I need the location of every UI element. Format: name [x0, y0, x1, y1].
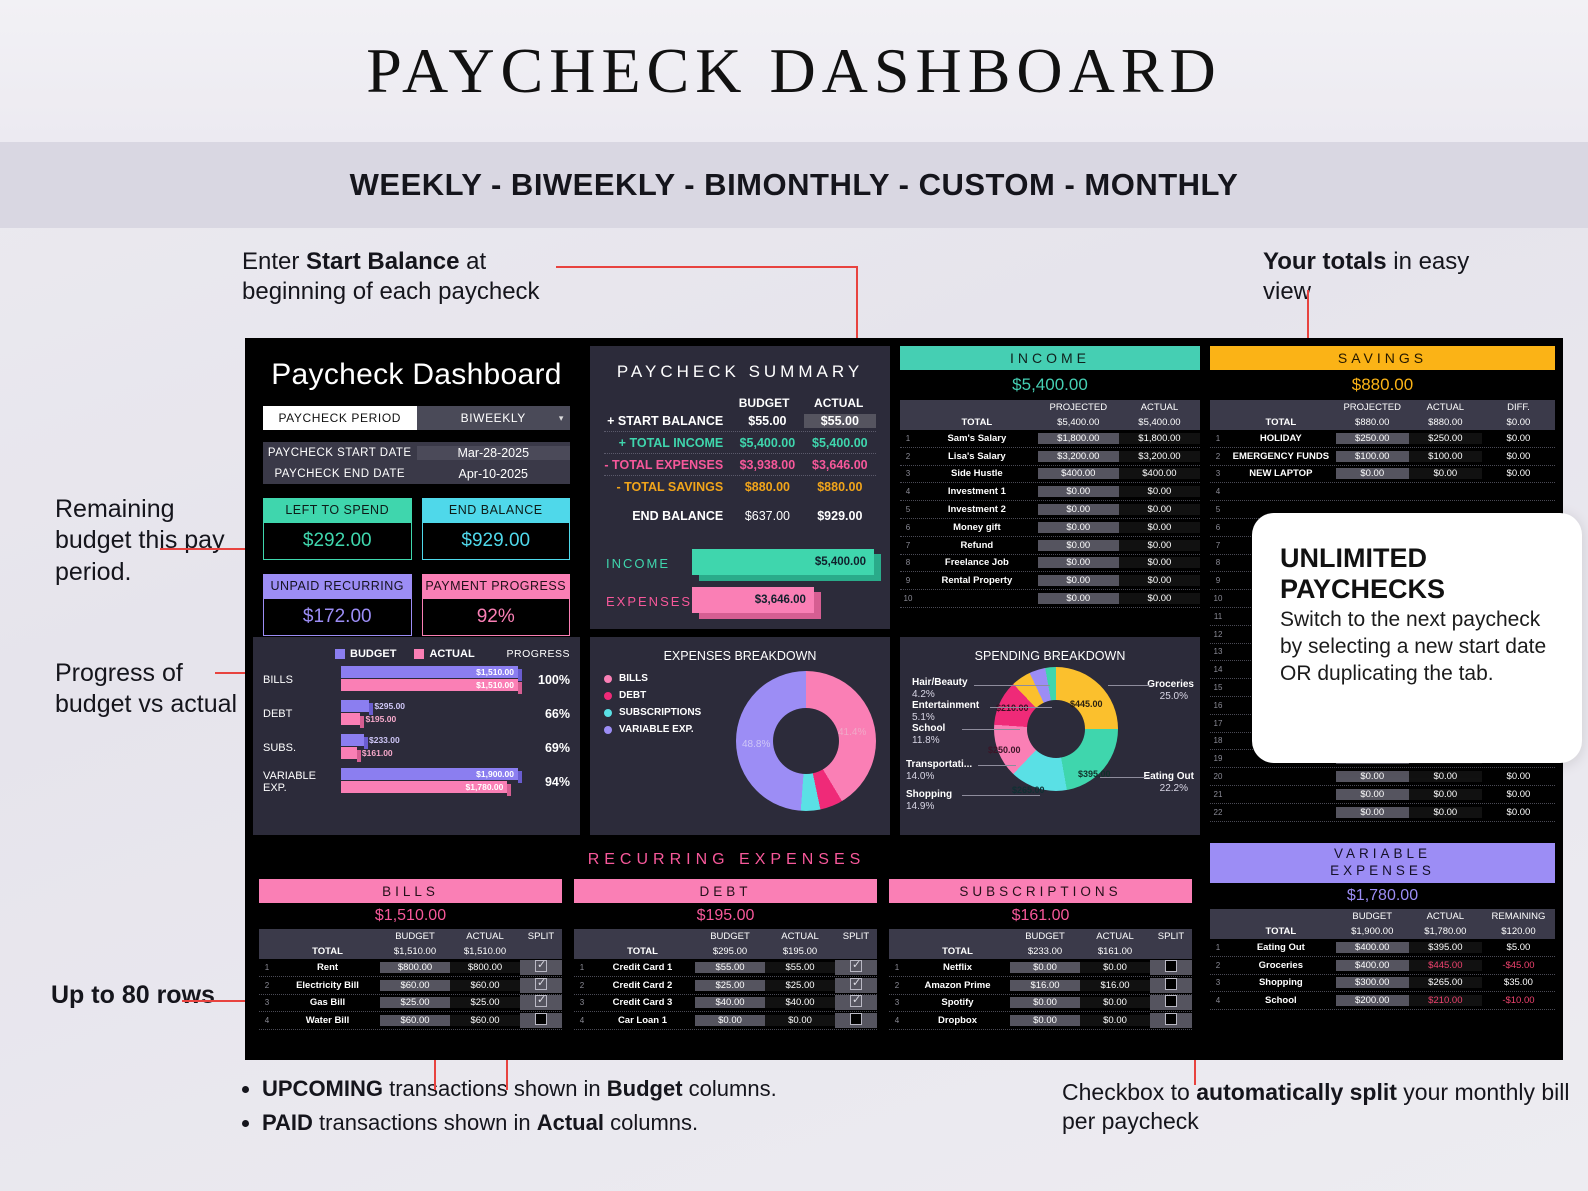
row-number: 9 — [1210, 576, 1226, 585]
row-number: 22 — [1210, 808, 1226, 817]
row-projected[interactable]: $0.00 — [1336, 789, 1409, 800]
col-budget: BUDGET — [1010, 931, 1080, 942]
table-row[interactable]: 3Shopping$300.00$265.00$35.00 — [1210, 975, 1555, 993]
row-projected[interactable]: $400.00 — [1038, 468, 1119, 479]
mini-header-row: BUDGETACTUALSPLIT — [574, 929, 877, 944]
row-split[interactable] — [520, 1013, 562, 1028]
table-row[interactable]: 10$0.00$0.00 — [900, 590, 1200, 608]
subtitle-text: WEEKLY - BIWEEKLY - BIMONTHLY - CUSTOM -… — [350, 167, 1239, 203]
row-budget[interactable]: $40.00 — [695, 997, 765, 1008]
row-number: 2 — [574, 981, 590, 990]
row-projected[interactable]: $1,800.00 — [1038, 433, 1119, 444]
spending-pct-shopping: 14.9% — [906, 801, 934, 812]
expenses-label-variable: 48.8% — [742, 739, 770, 750]
mini-total-row: TOTAL$233.00$161.00 — [889, 944, 1192, 959]
expenses-breakdown-chart: EXPENSES BREAKDOWN BILLS DEBT SUBSCRIPTI… — [590, 637, 890, 835]
row-actual[interactable]: $40.00 — [765, 997, 835, 1008]
kpi-unpaid-recurring-value: $172.00 — [263, 598, 412, 636]
row-number: 4 — [259, 1016, 275, 1025]
col-actual: ACTUAL — [1080, 931, 1150, 942]
kpi-payment-progress-value: 92% — [422, 598, 571, 636]
row-label[interactable]: Water Bill — [275, 1015, 380, 1026]
row-budget[interactable]: $0.00 — [1010, 997, 1080, 1008]
table-row[interactable]: 3Side Hustle$400.00$400.00 — [900, 466, 1200, 484]
paycheck-start-date-row[interactable]: PAYCHECK START DATE Mar-28-2025 — [263, 442, 570, 463]
annotation-bullets: UPCOMING transactions shown in Budget co… — [240, 1075, 1000, 1142]
progress-row: DEBT$295.00$195.0066% — [253, 697, 580, 731]
row-label[interactable]: EMERGENCY FUNDS — [1226, 451, 1336, 462]
row-number: 1 — [1210, 943, 1226, 952]
savings-col-diff: DIFF. — [1482, 402, 1555, 413]
row-actual[interactable]: $25.00 — [765, 980, 835, 991]
row-number: 10 — [900, 594, 916, 603]
mini-total-row: TOTAL$1,510.00$1,510.00 — [259, 944, 562, 959]
savings-caption: SAVINGS — [1210, 346, 1555, 370]
row-number: 2 — [1210, 961, 1226, 970]
row-actual[interactable]: $210.00 — [1409, 995, 1482, 1006]
callout-line-eatingout — [1100, 777, 1152, 778]
row-budget[interactable]: $400.00 — [1336, 942, 1409, 953]
table-row[interactable]: 4Investment 1$0.00$0.00 — [900, 483, 1200, 501]
row-projected[interactable]: $0.00 — [1038, 557, 1119, 568]
row-split[interactable] — [1150, 960, 1192, 975]
progress-bar-budget: $233.00 — [341, 734, 364, 746]
debt-caption: DEBT — [574, 879, 877, 903]
col-split: SPLIT — [835, 931, 877, 942]
table-row[interactable]: 4Water Bill$60.00$60.00 — [259, 1012, 562, 1030]
spending-pct-entertainment: 5.1% — [912, 712, 935, 723]
row-number: 1 — [574, 963, 590, 972]
row-actual[interactable]: $0.00 — [1119, 575, 1200, 586]
row-number: 3 — [1210, 469, 1226, 478]
start-date-value[interactable]: Mar-28-2025 — [417, 446, 571, 460]
split-checkbox[interactable] — [1165, 960, 1177, 972]
row-actual[interactable]: $60.00 — [450, 980, 520, 991]
kpi-end-balance: END BALANCE $929.00 — [422, 498, 571, 560]
row-actual[interactable]: $445.00 — [1409, 960, 1482, 971]
row-actual[interactable]: $55.00 — [765, 962, 835, 973]
paycheck-summary-title: PAYCHECK SUMMARY — [590, 346, 890, 382]
spending-pct-eating-out: 22.2% — [1160, 783, 1188, 794]
row-label[interactable]: Netflix — [905, 962, 1010, 973]
row-actual[interactable]: $0.00 — [1119, 522, 1200, 533]
bills-total: $1,510.00 — [259, 903, 562, 929]
chevron-down-icon: ▾ — [559, 413, 564, 424]
paycheck-end-date-row: PAYCHECK END DATE Apr-10-2025 — [263, 463, 570, 484]
summary-col-actual: ACTUAL — [801, 396, 876, 410]
progress-row-label: BILLS — [263, 674, 341, 686]
legend-actual: ACTUAL — [414, 648, 474, 660]
callout-line-transport — [978, 765, 1016, 766]
row-budget[interactable]: $0.00 — [1010, 1015, 1080, 1026]
row-split[interactable] — [1150, 1013, 1192, 1028]
split-checkbox[interactable] — [535, 978, 547, 990]
spending-label-hair-beauty: Hair/Beauty — [912, 677, 968, 688]
table-row[interactable]: 3Spotify$0.00$0.00 — [889, 995, 1192, 1013]
table-row[interactable]: 1Sam's Salary$1,800.00$1,800.00 — [900, 430, 1200, 448]
row-projected[interactable]: $0.00 — [1038, 540, 1119, 551]
progress-budget-value: $233.00 — [369, 735, 400, 745]
col-split: SPLIT — [520, 931, 562, 942]
row-label[interactable]: Dropbox — [905, 1015, 1010, 1026]
progress-row: VARIABLE EXP.$1,900.00$1,780.0094% — [253, 765, 580, 799]
progress-row-label: DEBT — [263, 708, 341, 720]
row-split[interactable] — [835, 1013, 877, 1028]
variable-expenses-table: BUDGET ACTUAL REMAINING TOTAL $1,900.00 … — [1210, 909, 1555, 1010]
progress-bar-budget: $295.00 — [341, 700, 369, 712]
legend-item-debt: DEBT — [604, 690, 701, 701]
dashboard-title-panel: Paycheck Dashboard PAYCHECK PERIOD BIWEE… — [253, 346, 580, 629]
debt-table: BUDGETACTUALSPLITTOTAL$295.00$195.001Cre… — [574, 929, 877, 1030]
row-actual[interactable]: $0.00 — [1080, 1015, 1150, 1026]
row-budget[interactable]: $0.00 — [695, 1015, 765, 1026]
row-label[interactable]: Credit Card 3 — [590, 997, 695, 1008]
summary-bar-income-label: INCOME — [606, 556, 692, 571]
table-row[interactable]: 3Credit Card 3$40.00$40.00 — [574, 995, 877, 1013]
row-split[interactable] — [835, 960, 877, 975]
row-budget[interactable]: $800.00 — [380, 962, 450, 973]
legend-budget-swatch — [335, 649, 345, 659]
row-split[interactable] — [1150, 995, 1192, 1010]
table-row[interactable]: 9Rental Property$0.00$0.00 — [900, 572, 1200, 590]
row-projected[interactable]: $250.00 — [1336, 433, 1409, 444]
split-checkbox[interactable] — [535, 1013, 547, 1025]
row-actual[interactable]: $0.00 — [1119, 486, 1200, 497]
row-actual[interactable]: $0.00 — [1409, 468, 1482, 479]
recurring-expenses-panel: RECURRING EXPENSES BILLS $1,510.00 BUDGE… — [253, 843, 1200, 1052]
row-actual[interactable]: $100.00 — [1409, 451, 1482, 462]
annotation-your-totals: Your totals in easy view — [1263, 247, 1493, 307]
row-label[interactable]: Credit Card 2 — [590, 980, 695, 991]
kpi-unpaid-recurring: UNPAID RECURRING $172.00 — [263, 574, 412, 636]
table-row[interactable]: 21$0.00$0.00$0.00 — [1210, 786, 1555, 804]
row-label[interactable]: Investment 1 — [916, 486, 1038, 497]
savings-col-projected: PROJECTED — [1336, 402, 1409, 413]
legend-item-variable: VARIABLE EXP. — [604, 724, 701, 735]
savings-header-row: PROJECTED ACTUAL DIFF. — [1210, 400, 1555, 415]
page-title: PAYCHECK DASHBOARD — [366, 34, 1221, 108]
progress-percent: 69% — [518, 741, 570, 755]
table-row[interactable]: 2Lisa's Salary$3,200.00$3,200.00 — [900, 448, 1200, 466]
row-number: 8 — [1210, 558, 1226, 567]
summary-bar-expenses-fill: $3,646.00 — [692, 587, 814, 613]
row-actual[interactable]: $0.00 — [1119, 557, 1200, 568]
row-label[interactable]: Sam's Salary — [916, 433, 1038, 444]
row-label[interactable]: Groceries — [1226, 960, 1336, 971]
progress-bar-actual: $195.00 — [341, 713, 360, 725]
row-number: 21 — [1210, 790, 1226, 799]
savings-total-row: TOTAL $880.00 $880.00 $0.00 — [1210, 415, 1555, 430]
table-row[interactable]: 4School$200.00$210.00-$10.00 — [1210, 992, 1555, 1010]
row-split[interactable] — [520, 995, 562, 1010]
row-number: 1 — [1210, 434, 1226, 443]
variable-expenses-caption: VARIABLE EXPENSES — [1210, 843, 1555, 883]
spending-label-entertainment: Entertainment — [912, 700, 979, 711]
row-budget[interactable]: $55.00 — [695, 962, 765, 973]
table-row[interactable]: 22$0.00$0.00$0.00 — [1210, 804, 1555, 822]
paycheck-summary-table: BUDGET ACTUAL + START BALANCE $55.00 $55… — [604, 396, 876, 526]
bills-caption: BILLS — [259, 879, 562, 903]
progress-percent: 100% — [518, 673, 570, 687]
subscriptions-total: $161.00 — [889, 903, 1192, 929]
row-label[interactable]: Money gift — [916, 522, 1038, 533]
table-row[interactable]: 1HOLIDAY$250.00$250.00$0.00 — [1210, 430, 1555, 448]
row-label[interactable]: HOLIDAY — [1226, 433, 1336, 444]
progress-budget-value: $295.00 — [374, 701, 405, 711]
expenses-chart-legend: BILLS DEBT SUBSCRIPTIONS VARIABLE EXP. — [604, 673, 701, 741]
row-label[interactable]: Amazon Prime — [905, 980, 1010, 991]
progress-percent: 94% — [518, 775, 570, 789]
variable-header-row: BUDGET ACTUAL REMAINING — [1210, 909, 1555, 924]
row-number: 14 — [1210, 665, 1226, 674]
row-number: 5 — [900, 505, 916, 514]
summary-row-start-balance: + START BALANCE $55.00 $55.00 — [604, 410, 876, 432]
row-number: 2 — [1210, 452, 1226, 461]
progress-budget-value: $1,510.00 — [476, 667, 514, 677]
income-col-projected: PROJECTED — [1038, 402, 1119, 413]
table-row[interactable]: 6Money gift$0.00$0.00 — [900, 519, 1200, 537]
row-split[interactable] — [520, 960, 562, 975]
table-row[interactable]: 2Amazon Prime$16.00$16.00 — [889, 977, 1192, 995]
spending-label-shopping: Shopping — [906, 789, 952, 800]
row-number: 10 — [1210, 594, 1226, 603]
summary-header-row: BUDGET ACTUAL — [604, 396, 876, 410]
row-projected[interactable]: $0.00 — [1336, 771, 1409, 782]
table-row[interactable]: 4 — [1210, 483, 1555, 501]
table-row[interactable]: 1Eating Out$400.00$395.00$5.00 — [1210, 939, 1555, 957]
progress-actual-value: $1,780.00 — [466, 782, 504, 792]
row-split[interactable] — [835, 978, 877, 993]
row-label[interactable]: Shopping — [1226, 977, 1336, 988]
row-budget[interactable]: $16.00 — [1010, 980, 1080, 991]
row-diff: $0.00 — [1482, 451, 1555, 462]
table-row[interactable]: 1Credit Card 1$55.00$55.00 — [574, 959, 877, 977]
income-table: PROJECTED ACTUAL TOTAL $5,400.00 $5,400.… — [900, 400, 1200, 608]
row-actual[interactable]: $0.00 — [1409, 807, 1482, 818]
row-actual[interactable]: $0.00 — [1080, 962, 1150, 973]
row-projected[interactable]: $0.00 — [1038, 504, 1119, 515]
row-split[interactable] — [835, 995, 877, 1010]
row-remaining: $35.00 — [1482, 977, 1555, 988]
row-actual[interactable]: $25.00 — [450, 997, 520, 1008]
bills-table-panel: BILLS $1,510.00 BUDGETACTUALSPLITTOTAL$1… — [259, 879, 562, 1051]
progress-bar-budget: $1,900.00 — [341, 768, 518, 780]
callout-line-school — [962, 729, 1020, 730]
row-projected[interactable]: $0.00 — [1038, 593, 1119, 604]
row-label[interactable]: NEW LAPTOP — [1226, 468, 1336, 479]
variable-total-row: TOTAL $1,900.00 $1,780.00 $120.00 — [1210, 924, 1555, 939]
table-row[interactable]: 7Refund$0.00$0.00 — [900, 537, 1200, 555]
row-actual[interactable]: $0.00 — [1119, 504, 1200, 515]
row-budget[interactable]: $25.00 — [380, 997, 450, 1008]
spending-pct-groceries: 25.0% — [1160, 691, 1188, 702]
row-actual[interactable]: $265.00 — [1409, 977, 1482, 988]
table-row[interactable]: 3Gas Bill$25.00$25.00 — [259, 995, 562, 1013]
row-actual[interactable]: $60.00 — [450, 1015, 520, 1026]
legend-budget: BUDGET — [335, 648, 396, 660]
table-row[interactable]: 3NEW LAPTOP$0.00$0.00$0.00 — [1210, 466, 1555, 484]
summary-bar-expenses-label: EXPENSES — [606, 594, 692, 609]
row-budget[interactable]: $200.00 — [1336, 995, 1409, 1006]
split-checkbox[interactable] — [850, 978, 862, 990]
summary-bar-income-fill: $5,400.00 — [692, 549, 874, 575]
row-actual[interactable]: $0.00 — [1409, 771, 1482, 782]
row-actual[interactable]: $395.00 — [1409, 942, 1482, 953]
recurring-expenses-title: RECURRING EXPENSES — [253, 843, 1200, 869]
progress-bar-actual: $161.00 — [341, 747, 357, 759]
table-row[interactable]: 8Freelance Job$0.00$0.00 — [900, 555, 1200, 573]
split-checkbox[interactable] — [1165, 1013, 1177, 1025]
row-number: 3 — [259, 998, 275, 1007]
start-date-label: PAYCHECK START DATE — [263, 447, 417, 459]
row-budget[interactable]: $60.00 — [380, 1015, 450, 1026]
row-budget[interactable]: $400.00 — [1336, 960, 1409, 971]
debt-table-panel: DEBT $195.00 BUDGETACTUALSPLITTOTAL$295.… — [574, 879, 877, 1051]
annotation-progress: Progress of budget vs actual — [55, 658, 245, 721]
callout-line-hair — [974, 685, 1050, 686]
row-actual[interactable]: $400.00 — [1119, 468, 1200, 479]
row-actual[interactable]: $1,800.00 — [1119, 433, 1200, 444]
row-label[interactable]: Refund — [916, 540, 1038, 551]
row-label[interactable]: Side Hustle — [916, 468, 1038, 479]
row-label[interactable]: Eating Out — [1226, 942, 1336, 953]
table-row[interactable]: 2Electricity Bill$60.00$60.00 — [259, 977, 562, 995]
split-checkbox[interactable] — [535, 960, 547, 972]
budget-vs-actual-panel: BUDGET ACTUAL PROGRESS BILLS$1,510.00$1,… — [253, 637, 580, 835]
spending-amount-transportation: $250.00 — [988, 745, 1021, 755]
progress-col-header: PROGRESS — [506, 648, 570, 660]
table-row[interactable]: 4Car Loan 1$0.00$0.00 — [574, 1012, 877, 1030]
row-actual[interactable]: $0.00 — [1119, 540, 1200, 551]
split-checkbox[interactable] — [850, 995, 862, 1007]
callout-line-shopping — [962, 795, 1040, 796]
row-label[interactable]: Investment 2 — [916, 504, 1038, 515]
row-budget[interactable]: $300.00 — [1336, 977, 1409, 988]
row-budget[interactable]: $25.00 — [695, 980, 765, 991]
progress-row: BILLS$1,510.00$1,510.00100% — [253, 663, 580, 697]
summary-row-total-savings: - TOTAL SAVINGS $880.00 $880.00 — [604, 476, 876, 497]
row-projected[interactable]: $0.00 — [1038, 486, 1119, 497]
row-label[interactable]: Rental Property — [916, 575, 1038, 586]
progress-rows: BILLS$1,510.00$1,510.00100%DEBT$295.00$1… — [253, 663, 580, 799]
row-projected[interactable]: $0.00 — [1038, 522, 1119, 533]
row-label[interactable]: Car Loan 1 — [590, 1015, 695, 1026]
subscriptions-table-panel: SUBSCRIPTIONS $161.00 BUDGETACTUALSPLITT… — [889, 879, 1192, 1051]
mini-header-row: BUDGETACTUALSPLIT — [259, 929, 562, 944]
mini-header-row: BUDGETACTUALSPLIT — [889, 929, 1192, 944]
table-row[interactable]: 2EMERGENCY FUNDS$100.00$100.00$0.00 — [1210, 448, 1555, 466]
row-number: 15 — [1210, 683, 1226, 692]
row-label[interactable]: Freelance Job — [916, 557, 1038, 568]
table-row[interactable]: 2Groceries$400.00$445.00-$45.00 — [1210, 957, 1555, 975]
row-remaining: -$45.00 — [1482, 960, 1555, 971]
legend-item-subscriptions: SUBSCRIPTIONS — [604, 707, 701, 718]
callout-line-ent — [990, 707, 1052, 708]
spending-breakdown-chart: SPENDING BREAKDOWN $445.00 $395.00 $265.… — [900, 637, 1200, 835]
table-row[interactable]: 1Netflix$0.00$0.00 — [889, 959, 1192, 977]
row-projected[interactable]: $100.00 — [1336, 451, 1409, 462]
table-row[interactable]: 20$0.00$0.00$0.00 — [1210, 768, 1555, 786]
split-checkbox[interactable] — [1165, 995, 1177, 1007]
row-label[interactable]: Credit Card 1 — [590, 962, 695, 973]
kpi-payment-progress: PAYMENT PROGRESS 92% — [422, 574, 571, 636]
row-projected[interactable]: $3,200.00 — [1038, 451, 1119, 462]
row-number: 4 — [1210, 996, 1226, 1005]
summary-col-budget: BUDGET — [727, 396, 802, 410]
kpi-left-to-spend: LEFT TO SPEND $292.00 — [263, 498, 412, 560]
income-header-row: PROJECTED ACTUAL — [900, 400, 1200, 415]
row-number: 4 — [889, 1016, 905, 1025]
row-actual[interactable]: $0.00 — [1409, 789, 1482, 800]
table-row[interactable]: 4Dropbox$0.00$0.00 — [889, 1012, 1192, 1030]
table-row[interactable]: 1Rent$800.00$800.00 — [259, 959, 562, 977]
row-number: 16 — [1210, 701, 1226, 710]
start-balance-actual-cell[interactable]: $55.00 — [804, 414, 876, 428]
row-actual[interactable]: $16.00 — [1080, 980, 1150, 991]
row-label[interactable]: Rent — [275, 962, 380, 973]
dashboard-title: Paycheck Dashboard — [253, 346, 580, 392]
row-actual[interactable]: $0.00 — [765, 1015, 835, 1026]
col-budget: BUDGET — [695, 931, 765, 942]
split-checkbox[interactable] — [850, 1013, 862, 1025]
row-label[interactable]: School — [1226, 995, 1336, 1006]
table-row[interactable]: 5Investment 2$0.00$0.00 — [900, 501, 1200, 519]
row-split[interactable] — [520, 978, 562, 993]
row-number: 1 — [889, 963, 905, 972]
row-diff: $0.00 — [1482, 789, 1555, 800]
subscriptions-caption: SUBSCRIPTIONS — [889, 879, 1192, 903]
row-number: 7 — [1210, 541, 1226, 550]
progress-budget-value: $1,900.00 — [476, 769, 514, 779]
callout-line-groceries — [1108, 685, 1152, 686]
spending-label-school: School — [912, 723, 945, 734]
row-actual[interactable]: $3,200.00 — [1119, 451, 1200, 462]
spending-pct-transportation: 14.0% — [906, 771, 934, 782]
row-projected[interactable]: $0.00 — [1336, 807, 1409, 818]
row-number: 4 — [574, 1016, 590, 1025]
spending-amount-school: $210.00 — [996, 703, 1029, 713]
split-checkbox[interactable] — [535, 995, 547, 1007]
row-actual[interactable]: $800.00 — [450, 962, 520, 973]
row-label[interactable]: Electricity Bill — [275, 980, 380, 991]
row-actual[interactable]: $0.00 — [1119, 593, 1200, 604]
row-number: 1 — [900, 434, 916, 443]
row-label[interactable]: Lisa's Salary — [916, 451, 1038, 462]
split-checkbox[interactable] — [850, 960, 862, 972]
row-number: 3 — [889, 998, 905, 1007]
row-budget[interactable]: $60.00 — [380, 980, 450, 991]
callout-body: Switch to the next paycheck by selecting… — [1280, 607, 1554, 688]
row-actual[interactable]: $250.00 — [1409, 433, 1482, 444]
row-budget[interactable]: $0.00 — [1010, 962, 1080, 973]
row-split[interactable] — [1150, 978, 1192, 993]
row-projected[interactable]: $0.00 — [1038, 575, 1119, 586]
annotation-remaining-budget: Remaining budget this pay period. — [55, 494, 245, 588]
variable-expenses-total: $1,780.00 — [1210, 883, 1555, 909]
row-actual[interactable]: $0.00 — [1080, 997, 1150, 1008]
row-projected[interactable]: $0.00 — [1336, 468, 1409, 479]
row-number: 17 — [1210, 719, 1226, 728]
row-label[interactable]: Spotify — [905, 997, 1010, 1008]
col-split: SPLIT — [1150, 931, 1192, 942]
split-checkbox[interactable] — [1165, 978, 1177, 990]
summary-bars: INCOME $5,400.00 EXPENSES $3,646.00 — [606, 544, 874, 620]
expenses-label-bills: 41.4% — [838, 727, 866, 738]
paycheck-period-dropdown[interactable]: BIWEEKLY ▾ — [417, 406, 571, 430]
table-row[interactable]: 2Credit Card 2$25.00$25.00 — [574, 977, 877, 995]
row-label[interactable]: Gas Bill — [275, 997, 380, 1008]
progress-actual-value: $1,510.00 — [476, 680, 514, 690]
